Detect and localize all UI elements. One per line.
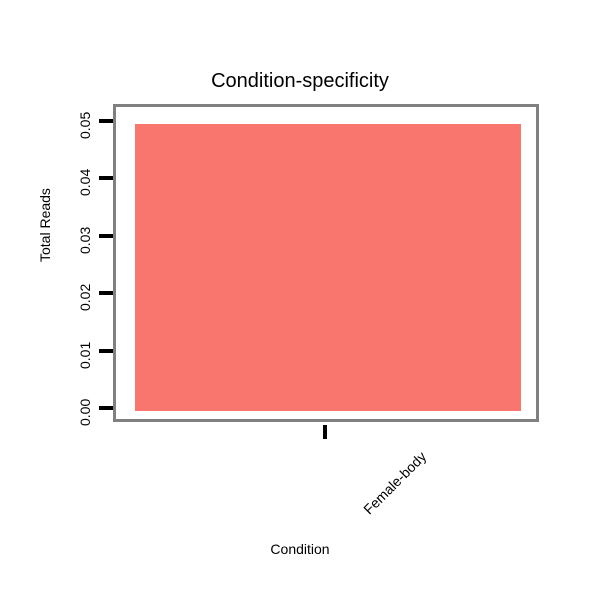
bar bbox=[135, 124, 521, 411]
y-tick-label: 0.02 bbox=[78, 284, 92, 311]
y-tick-label: 0.00 bbox=[78, 399, 92, 426]
y-tick-mark bbox=[99, 119, 113, 123]
y-tick-label: 0.03 bbox=[78, 227, 92, 254]
y-tick-mark bbox=[99, 291, 113, 295]
y-tick-mark bbox=[99, 406, 113, 410]
x-axis-title: Condition bbox=[0, 541, 600, 557]
y-tick-mark bbox=[99, 234, 113, 238]
y-tick-label: 0.04 bbox=[78, 169, 92, 196]
y-tick-mark bbox=[99, 349, 113, 353]
bar-chart: Condition-specificity Total Reads 0.000.… bbox=[0, 0, 600, 600]
plot-area bbox=[116, 107, 536, 419]
chart-title: Condition-specificity bbox=[0, 70, 600, 92]
y-axis-title: Total Reads bbox=[38, 188, 52, 262]
x-tick-mark bbox=[323, 425, 327, 439]
plot-panel bbox=[113, 104, 539, 422]
y-tick-label: 0.05 bbox=[78, 112, 92, 139]
y-tick-label: 0.01 bbox=[78, 341, 92, 368]
x-tick-label: Female-body bbox=[361, 449, 429, 517]
y-tick-mark bbox=[99, 176, 113, 180]
